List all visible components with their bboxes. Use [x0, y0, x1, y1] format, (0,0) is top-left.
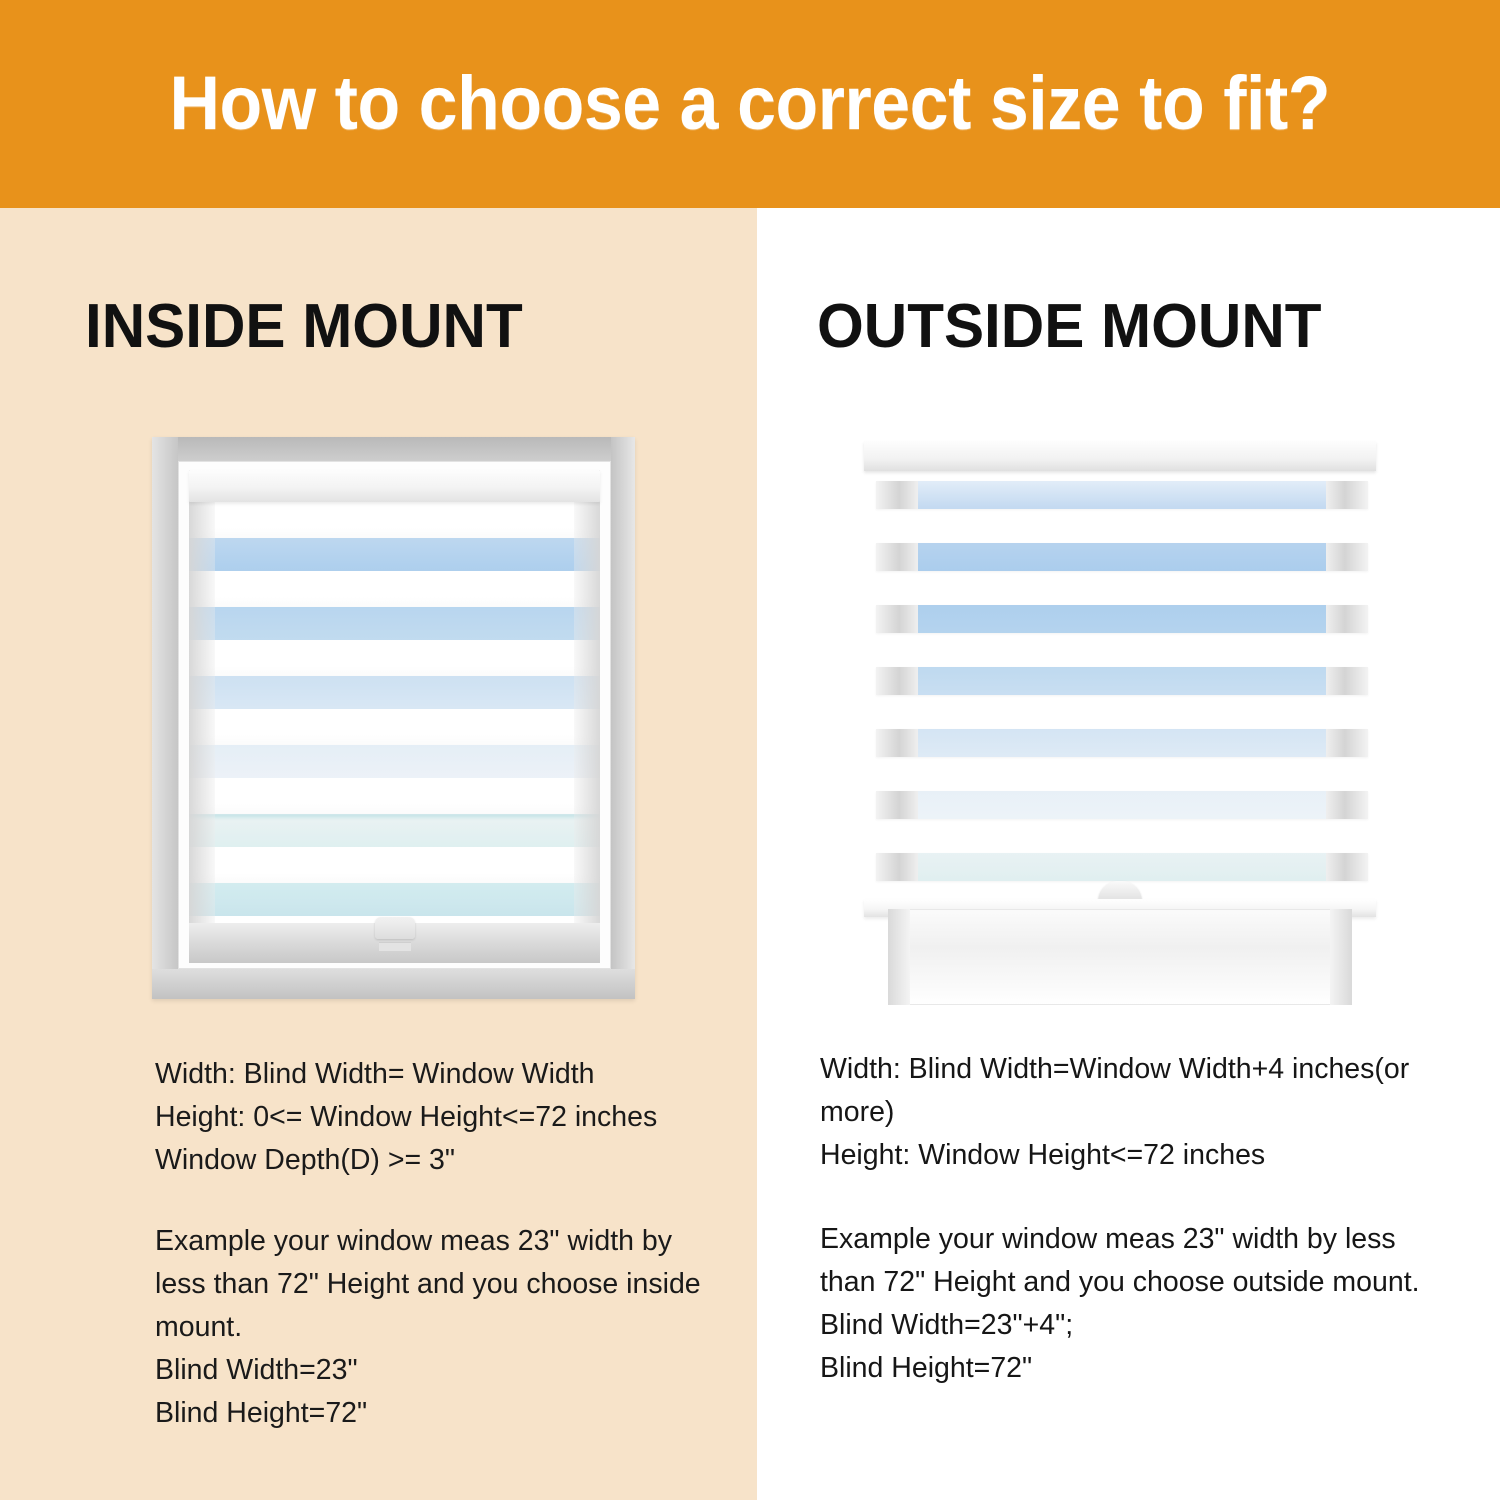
blind-slat-end-right [1326, 605, 1368, 633]
blind-slat-end-left [876, 481, 918, 509]
blind-opaque-band [189, 709, 600, 745]
blind-sheer-band [189, 745, 600, 778]
blind-opaque-band [189, 640, 600, 676]
blind-slat-end-right [1326, 729, 1368, 757]
inside-mount-heading: INSIDE MOUNT [85, 296, 523, 358]
blind-opaque-band [189, 778, 600, 814]
outside-mount-example-text: Example your window meas 23" width by le… [820, 1218, 1420, 1390]
window-recess-left [888, 909, 910, 1005]
inside-mount-example-text: Example your window meas 23" width by le… [155, 1220, 725, 1435]
blind-opaque-band [888, 757, 1352, 791]
blind-slat [876, 853, 1368, 881]
blind-slat [876, 481, 1368, 509]
blind-slat-end-left [876, 729, 918, 757]
window-glass [189, 470, 600, 925]
blind-opaque-band [189, 571, 600, 607]
window-reveal-right [611, 437, 635, 999]
page-title: How to choose a correct size to fit? [170, 66, 1331, 142]
blind-slat-end-right [1326, 543, 1368, 571]
blind-opaque-band [189, 847, 600, 883]
blind-slat [876, 605, 1368, 633]
outside-mount-window-illustration [860, 437, 1380, 999]
blind-opaque-band [888, 509, 1352, 543]
blind-opaque-band [888, 695, 1352, 729]
blind-slat [876, 729, 1368, 757]
inside-mount-window-illustration [152, 437, 635, 999]
blind-headrail [864, 441, 1376, 471]
blind-slat-end-left [876, 543, 918, 571]
blind-slat-end-left [876, 853, 918, 881]
blind-slat-end-right [1326, 853, 1368, 881]
blind-opaque-band [888, 571, 1352, 605]
infographic-page: How to choose a correct size to fit? INS… [0, 0, 1500, 1500]
window-reveal-left [152, 437, 178, 999]
blind-sheer-band [189, 814, 600, 847]
window-reveal-bottom [152, 969, 635, 999]
blind-slat-end-left [876, 605, 918, 633]
window-handle-slot [379, 942, 411, 951]
blind-slat-end-right [1326, 481, 1368, 509]
blind-sheer-band [189, 676, 600, 709]
outside-mount-spec-text: Width: Blind Width=Window Width+4 inches… [820, 1048, 1420, 1177]
blind-opaque-band [888, 819, 1352, 853]
zebra-blind-fabric [189, 470, 600, 925]
blind-slat [876, 791, 1368, 819]
blind-sheer-band [189, 607, 600, 640]
outside-mount-heading: OUTSIDE MOUNT [817, 296, 1322, 358]
blind-headrail [189, 470, 600, 502]
window-recess-right [1330, 909, 1352, 1005]
blind-slat [876, 667, 1368, 695]
window-handle-icon [375, 917, 415, 939]
blind-slat [876, 543, 1368, 571]
window-recess [888, 909, 1352, 1005]
blind-opaque-band [888, 633, 1352, 667]
blind-slat-end-left [876, 791, 918, 819]
blind-slat-end-right [1326, 791, 1368, 819]
blind-opaque-band [189, 502, 600, 538]
window-reveal-top [152, 437, 635, 463]
blind-slat-end-right [1326, 667, 1368, 695]
header-banner: How to choose a correct size to fit? [0, 0, 1500, 208]
blind-slat-end-left [876, 667, 918, 695]
blind-sheer-band [189, 538, 600, 571]
inside-mount-spec-text: Width: Blind Width= Window Width Height:… [155, 1053, 715, 1182]
blind-sheer-band [189, 883, 600, 916]
window-sash-frame [178, 461, 611, 969]
